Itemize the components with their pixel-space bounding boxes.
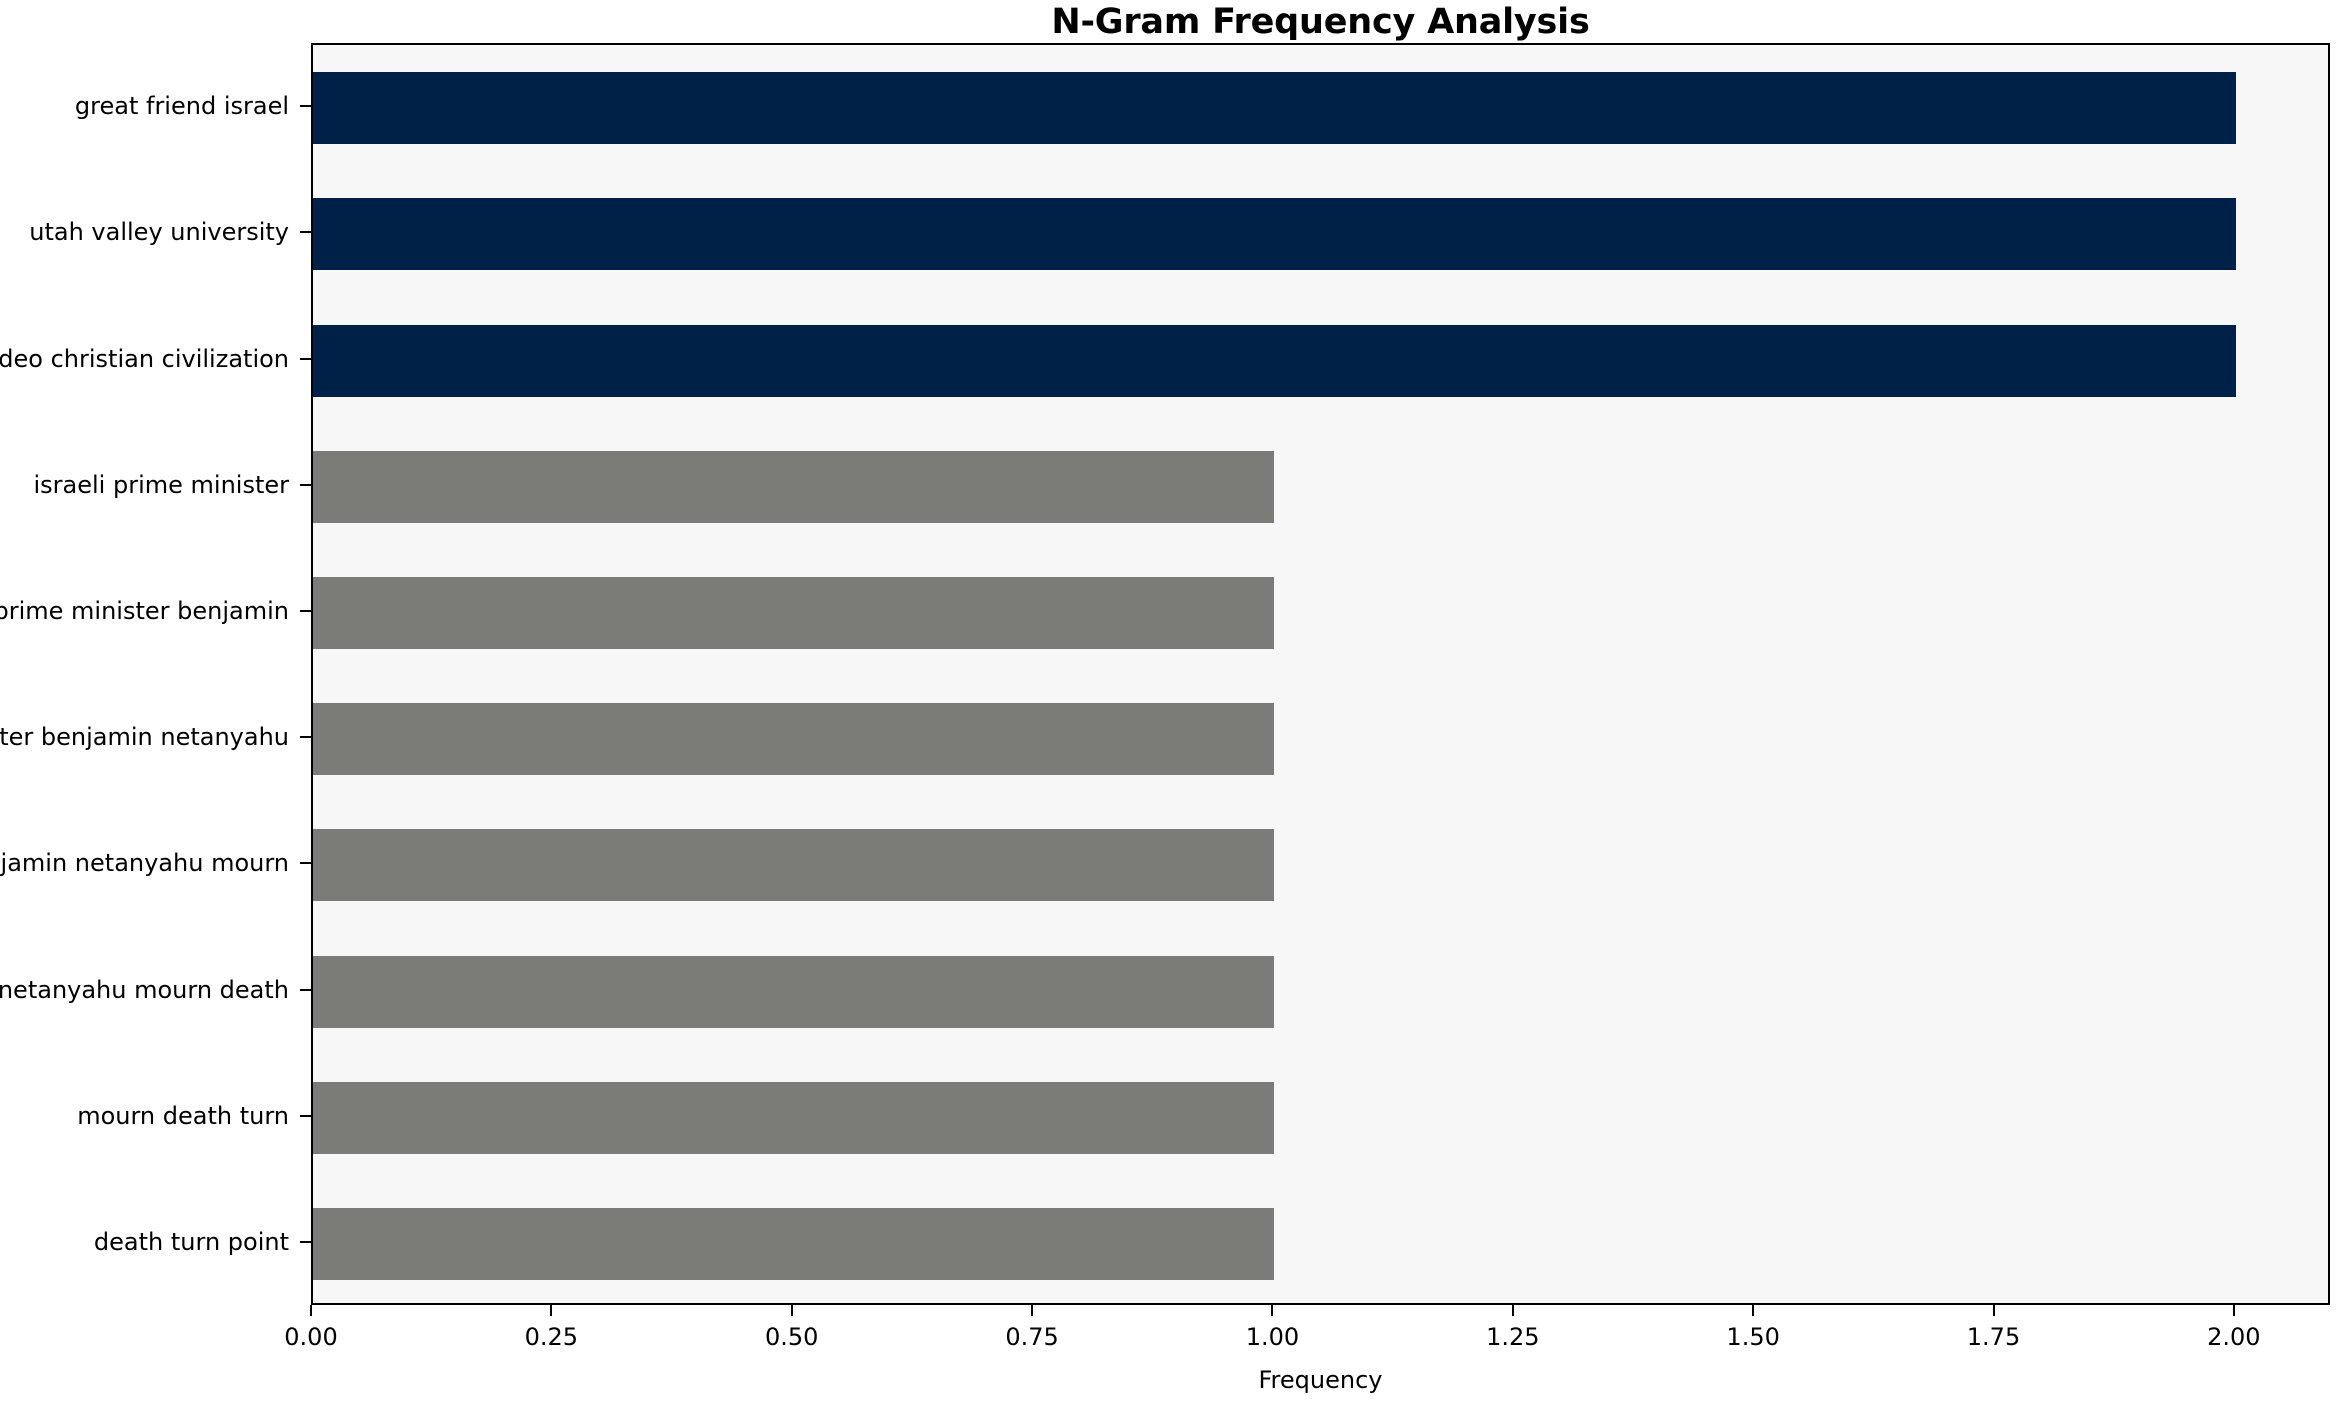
- x-axis-tick-mark: [550, 1305, 552, 1316]
- y-axis-tick-mark: [300, 105, 311, 107]
- y-axis-tick-label: judeo christian civilization: [0, 345, 289, 373]
- y-axis-tick-label: benjamin netanyahu mourn: [0, 849, 289, 877]
- x-axis-tick-mark: [1271, 1305, 1273, 1316]
- y-axis-tick-mark: [300, 1115, 311, 1117]
- x-axis-tick-label: 1.00: [1246, 1323, 1299, 1351]
- y-axis-tick-mark: [300, 484, 311, 486]
- x-axis-tick-label: 0.25: [525, 1323, 578, 1351]
- y-axis-tick-label: minister benjamin netanyahu: [0, 723, 289, 751]
- y-axis-tick-mark: [300, 358, 311, 360]
- bar: [313, 325, 2236, 397]
- bar: [313, 198, 2236, 270]
- y-axis-tick-mark: [300, 862, 311, 864]
- x-axis-tick-label: 1.25: [1486, 1323, 1539, 1351]
- y-axis-tick-label: death turn point: [94, 1228, 289, 1256]
- x-axis-tick-mark: [791, 1305, 793, 1316]
- bar: [313, 72, 2236, 144]
- y-axis-tick-label: utah valley university: [29, 218, 289, 246]
- ngram-frequency-chart: N-Gram Frequency Analysis great friend i…: [0, 0, 2345, 1414]
- x-axis-label: Frequency: [311, 1365, 2330, 1395]
- x-axis-tick-mark: [1031, 1305, 1033, 1316]
- page-title: N-Gram Frequency Analysis: [311, 2, 2330, 42]
- y-axis-tick-mark: [300, 736, 311, 738]
- bar: [313, 1082, 1274, 1154]
- x-axis-tick-label: 0.00: [284, 1323, 337, 1351]
- bar: [313, 451, 1274, 523]
- y-axis-tick-mark: [300, 231, 311, 233]
- y-axis-tick-label: prime minister benjamin: [0, 597, 289, 625]
- bar: [313, 829, 1274, 901]
- x-axis-tick-mark: [1993, 1305, 1995, 1316]
- bar: [313, 703, 1274, 775]
- x-axis-tick-label: 0.75: [1005, 1323, 1058, 1351]
- bar: [313, 956, 1274, 1028]
- y-axis-tick-label: great friend israel: [75, 92, 289, 120]
- y-axis-tick-label: israeli prime minister: [34, 471, 290, 499]
- x-axis-tick-label: 0.50: [765, 1323, 818, 1351]
- x-axis-tick-mark: [2233, 1305, 2235, 1316]
- bar: [313, 1208, 1274, 1280]
- bar: [313, 577, 1274, 649]
- x-axis-tick-layer: Frequency 0.000.250.500.751.001.251.501.…: [0, 1305, 2345, 1414]
- x-axis-tick-label: 2.00: [2207, 1323, 2260, 1351]
- bars-layer: [313, 45, 2328, 1303]
- x-axis-tick-mark: [1752, 1305, 1754, 1316]
- x-axis-tick-mark: [310, 1305, 312, 1316]
- y-axis-tick-mark: [300, 610, 311, 612]
- y-axis-tick-label: mourn death turn: [77, 1102, 289, 1130]
- plot-area: [311, 43, 2330, 1305]
- y-axis-tick-mark: [300, 989, 311, 991]
- x-axis-tick-mark: [1512, 1305, 1514, 1316]
- y-axis-tick-label: netanyahu mourn death: [0, 976, 289, 1004]
- x-axis-tick-label: 1.50: [1726, 1323, 1779, 1351]
- y-axis-tick-layer: great friend israelutah valley universit…: [0, 43, 311, 1305]
- y-axis-tick-mark: [300, 1241, 311, 1243]
- x-axis-tick-label: 1.75: [1967, 1323, 2020, 1351]
